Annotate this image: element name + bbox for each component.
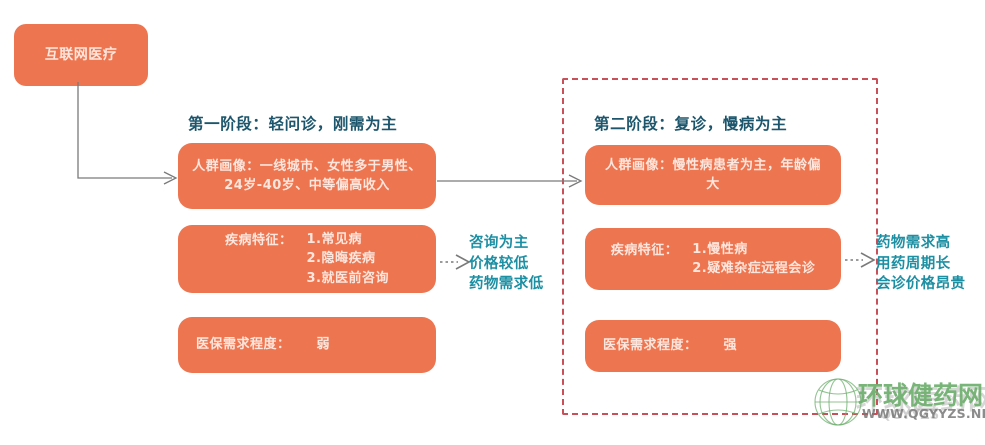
connector-phase2-to-outcome — [845, 248, 877, 272]
phase2-portrait-box[interactable]: 人群画像：慢性病患者为主，年龄偏 大 — [585, 145, 841, 205]
root-node-label: 互联网医疗 — [14, 45, 148, 66]
phase2-insurance-box[interactable]: 医保需求程度： 强 — [585, 320, 841, 372]
connector-root-to-phase1 — [60, 80, 190, 190]
phase1-disease-item-1: 1.常见病 — [307, 230, 389, 250]
phase2-title: 第二阶段：复诊，慢病为主 — [594, 112, 787, 134]
phase2-disease-label: 疾病特征： — [611, 240, 679, 261]
phase1-portrait-line-1: 人群画像：一线城市、女性多于男性、 — [188, 157, 426, 177]
phase1-outcome-line-1: 咨询为主 — [469, 233, 544, 254]
phase1-insurance-label: 医保需求程度： — [196, 335, 291, 355]
diagram-canvas: 互联网医疗 第一阶段：轻问诊，刚需为主 人群画像：一线城市、女性多于男性、 24… — [0, 0, 985, 445]
phase2-outcome: 药物需求高 用药周期长 会诊价格昂贵 — [876, 233, 965, 295]
phase1-outcome-line-2: 价格较低 — [469, 254, 544, 275]
phase2-disease-item-2: 2.疑难杂症远程会诊 — [692, 259, 815, 279]
phase1-outcome: 咨询为主 价格较低 药物需求低 — [469, 233, 544, 295]
phase1-disease-item-3: 3.就医前咨询 — [307, 269, 389, 289]
phase1-insurance-value: 弱 — [317, 335, 331, 355]
phase1-title: 第一阶段：轻问诊，刚需为主 — [188, 112, 397, 134]
connector-phase1-to-phase2 — [437, 168, 587, 194]
watermark-url: WWW.QGYYZS.NET — [862, 406, 985, 421]
phase2-outcome-line-1: 药物需求高 — [876, 233, 965, 254]
phase2-outcome-line-2: 用药周期长 — [876, 254, 965, 275]
phase1-disease-label: 疾病特征： — [225, 230, 293, 251]
background-watermark-sub: QGYYZS — [880, 408, 939, 423]
phase2-insurance-value: 强 — [724, 336, 738, 356]
phase1-disease-item-2: 2.隐晦疾病 — [307, 249, 389, 269]
phase2-outcome-line-3: 会诊价格昂贵 — [876, 274, 965, 295]
phase2-insurance-label: 医保需求程度： — [603, 336, 698, 356]
phase1-insurance-box[interactable]: 医保需求程度： 弱 — [178, 317, 436, 373]
root-node-internet-healthcare[interactable]: 互联网医疗 — [14, 24, 148, 86]
phase2-portrait-line-1: 人群画像：慢性病患者为主，年龄偏 — [595, 156, 831, 176]
phase2-portrait-line-2: 大 — [595, 175, 831, 195]
phase1-portrait-box[interactable]: 人群画像：一线城市、女性多于男性、 24岁-40岁、中等偏高收入 — [178, 143, 436, 209]
phase2-disease-item-1: 1.慢性病 — [692, 240, 815, 260]
phase2-disease-box[interactable]: 疾病特征： 1.慢性病 2.疑难杂症远程会诊 — [585, 228, 841, 290]
phase1-portrait-line-2: 24岁-40岁、中等偏高收入 — [188, 176, 426, 196]
connector-phase1-to-outcome — [440, 250, 472, 274]
phase1-outcome-line-3: 药物需求低 — [469, 274, 544, 295]
phase1-disease-box[interactable]: 疾病特征： 1.常见病 2.隐晦疾病 3.就医前咨询 — [178, 225, 436, 293]
